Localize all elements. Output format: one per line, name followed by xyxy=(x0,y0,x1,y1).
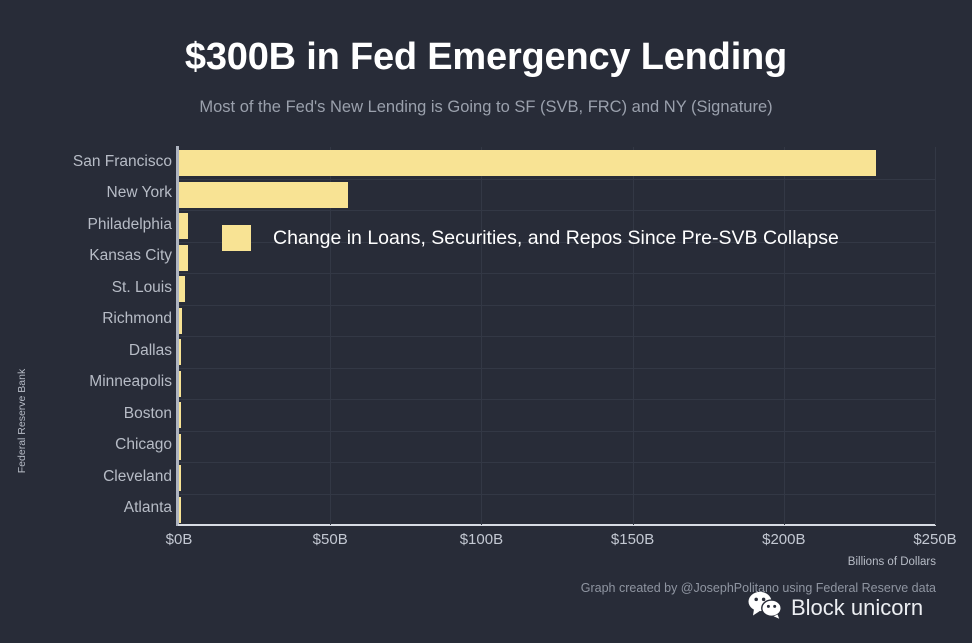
bar xyxy=(179,182,348,208)
x-axis-tick-label: $200B xyxy=(762,531,805,548)
bar xyxy=(179,150,876,176)
x-axis-title: Billions of Dollars xyxy=(848,556,936,568)
x-axis-tick-label: $50B xyxy=(313,531,348,548)
gridline-vertical xyxy=(935,147,936,525)
y-axis-tick-label: Dallas xyxy=(12,342,172,360)
bar xyxy=(179,434,181,460)
wechat-icon xyxy=(748,591,782,624)
bar xyxy=(179,371,181,397)
y-axis-tick-label: Minneapolis xyxy=(12,373,172,391)
bar-row xyxy=(179,305,935,337)
x-axis-tick-label: $100B xyxy=(460,531,503,548)
y-axis-tick-label: St. Louis xyxy=(12,279,172,297)
chart-subtitle: Most of the Fed's New Lending is Going t… xyxy=(0,98,972,117)
bar-row xyxy=(179,273,935,305)
y-axis-tick-label: Boston xyxy=(12,405,172,423)
legend-label: Change in Loans, Securities, and Repos S… xyxy=(273,227,839,250)
y-axis-tick-label: Kansas City xyxy=(12,247,172,265)
chart-screenshot: $300B in Fed Emergency Lending Most of t… xyxy=(0,0,972,643)
plot-area xyxy=(179,147,935,525)
bar-row xyxy=(179,399,935,431)
bar xyxy=(179,339,181,365)
x-axis-tick-label: $0B xyxy=(166,531,193,548)
bar xyxy=(179,276,185,302)
legend-color-swatch xyxy=(222,225,251,251)
y-axis-tick-label: New York xyxy=(12,184,172,202)
bar-row xyxy=(179,147,935,179)
bar xyxy=(179,213,188,239)
y-axis-tick-label: Chicago xyxy=(12,436,172,454)
x-axis-tick-label: $150B xyxy=(611,531,654,548)
y-axis-tick-label: Atlanta xyxy=(12,499,172,517)
bar-row xyxy=(179,179,935,211)
bar xyxy=(179,465,181,491)
bar-row xyxy=(179,336,935,368)
watermark-label: Block unicorn xyxy=(791,595,923,621)
bar-row xyxy=(179,494,935,526)
bar xyxy=(179,402,181,428)
chart-title: $300B in Fed Emergency Lending xyxy=(0,36,972,79)
bar-row xyxy=(179,431,935,463)
bar xyxy=(179,245,188,271)
bar xyxy=(179,497,181,523)
watermark: Block unicorn xyxy=(748,591,923,624)
bar-row xyxy=(179,462,935,494)
bar-row xyxy=(179,368,935,400)
y-axis-tick-label: San Francisco xyxy=(12,153,172,171)
y-axis-tick-label: Cleveland xyxy=(12,468,172,486)
chart-legend: Change in Loans, Securities, and Repos S… xyxy=(222,225,839,251)
y-axis-tick-label: Philadelphia xyxy=(12,216,172,234)
bar xyxy=(179,308,182,334)
y-axis-tick-label: Richmond xyxy=(12,310,172,328)
y-axis-tick-labels: Federal Reserve Bank San FranciscoNew Yo… xyxy=(10,147,172,525)
x-axis-tick-label: $250B xyxy=(913,531,956,548)
